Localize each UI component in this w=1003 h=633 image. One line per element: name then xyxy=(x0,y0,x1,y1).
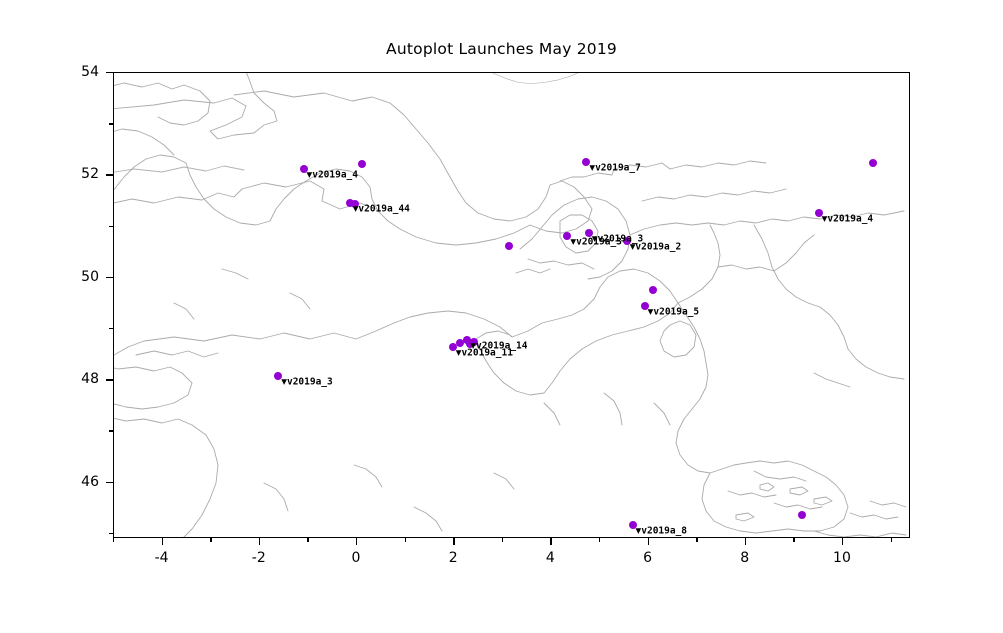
x-major-tick xyxy=(745,538,746,545)
y-major-tick xyxy=(106,277,113,278)
scatter-point-label: ▼v2019a_2 xyxy=(630,242,681,252)
scatter-point[interactable] xyxy=(649,286,657,294)
scatter-point-label: ▼v2019a_3 xyxy=(281,377,332,387)
y-minor-tick xyxy=(109,533,113,534)
x-minor-tick xyxy=(210,538,211,542)
x-tick-label: 8 xyxy=(740,550,749,566)
x-tick-label: -2 xyxy=(252,550,266,566)
x-major-tick xyxy=(162,538,163,545)
basemap-coastlines xyxy=(114,73,910,538)
scatter-point-label: ▼v2019a_14 xyxy=(470,342,527,352)
x-minor-tick xyxy=(891,538,892,542)
y-tick-label: 52 xyxy=(55,166,99,182)
y-minor-tick xyxy=(109,226,113,227)
x-major-tick xyxy=(648,538,649,545)
x-tick-label: 4 xyxy=(546,550,555,566)
x-minor-tick xyxy=(502,538,503,542)
x-major-tick xyxy=(550,538,551,545)
x-minor-tick xyxy=(793,538,794,542)
y-minor-tick xyxy=(109,430,113,431)
y-tick-label: 50 xyxy=(55,269,99,285)
y-major-tick xyxy=(106,72,113,73)
x-major-tick xyxy=(842,538,843,545)
plot-axes-area[interactable]: ▼v2019a_4▼v2019a_44▼v2019a_3▼v2019a_11▼v… xyxy=(113,72,910,538)
x-major-tick xyxy=(259,538,260,545)
x-minor-tick xyxy=(696,538,697,542)
y-tick-label: 46 xyxy=(55,474,99,490)
x-tick-label: 6 xyxy=(643,550,652,566)
chart-title: Autoplot Launches May 2019 xyxy=(0,40,1003,58)
x-major-tick xyxy=(356,538,357,545)
scatter-point-label: ▼v2019a_8 xyxy=(636,526,687,536)
x-tick-label: -4 xyxy=(155,550,169,566)
x-tick-label: 2 xyxy=(449,550,458,566)
scatter-point[interactable] xyxy=(798,511,806,519)
scatter-point-label: ▼v2019a_7 xyxy=(589,163,640,173)
y-minor-tick xyxy=(109,123,113,124)
y-tick-label: 54 xyxy=(55,64,99,80)
scatter-point[interactable] xyxy=(505,242,513,250)
scatter-point-label: ▼v2019a_4 xyxy=(822,214,873,224)
y-major-tick xyxy=(106,379,113,380)
y-tick-label: 48 xyxy=(55,371,99,387)
scatter-point-label: ▼v2019a_5 xyxy=(648,307,699,317)
x-minor-tick xyxy=(405,538,406,542)
scatter-point[interactable] xyxy=(869,159,877,167)
y-major-tick xyxy=(106,174,113,175)
scatter-point-label: ▼v2019a_4 xyxy=(307,171,358,181)
scatter-point-label: ▼v2019a_44 xyxy=(353,204,410,214)
y-minor-tick xyxy=(109,328,113,329)
x-tick-label: 10 xyxy=(833,550,851,566)
x-minor-tick xyxy=(113,538,114,542)
x-tick-label: 0 xyxy=(352,550,361,566)
x-major-tick xyxy=(453,538,454,545)
scatter-point[interactable] xyxy=(358,160,366,168)
x-minor-tick xyxy=(599,538,600,542)
y-major-tick xyxy=(106,482,113,483)
figure-canvas: Autoplot Launches May 2019 xyxy=(0,0,1003,633)
x-minor-tick xyxy=(307,538,308,542)
